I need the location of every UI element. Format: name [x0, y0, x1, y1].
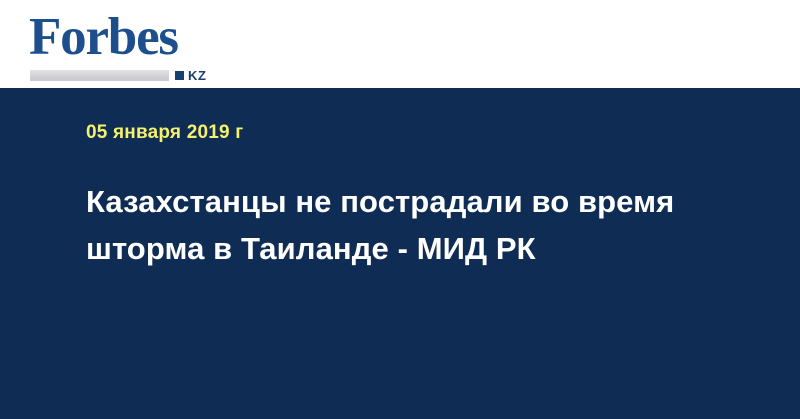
- square-icon: [175, 71, 184, 80]
- site-header: Forbes KZ: [0, 0, 800, 88]
- logo-underline-group: KZ: [30, 69, 226, 82]
- hero-banner: 05 января 2019 г Казахстанцы не пострада…: [0, 88, 800, 419]
- article-date: 05 января 2019 г: [86, 122, 243, 144]
- logo-gray-bar: [30, 70, 169, 81]
- logo-kz-suffix: KZ: [188, 69, 207, 82]
- article-title[interactable]: Казахстанцы не пострадали во время шторм…: [86, 178, 696, 272]
- forbes-kz-logo[interactable]: Forbes KZ: [29, 11, 229, 77]
- article-card: Forbes KZ 05 января 2019 г Казахстанцы н…: [0, 0, 800, 419]
- forbes-wordmark: Forbes: [29, 11, 229, 64]
